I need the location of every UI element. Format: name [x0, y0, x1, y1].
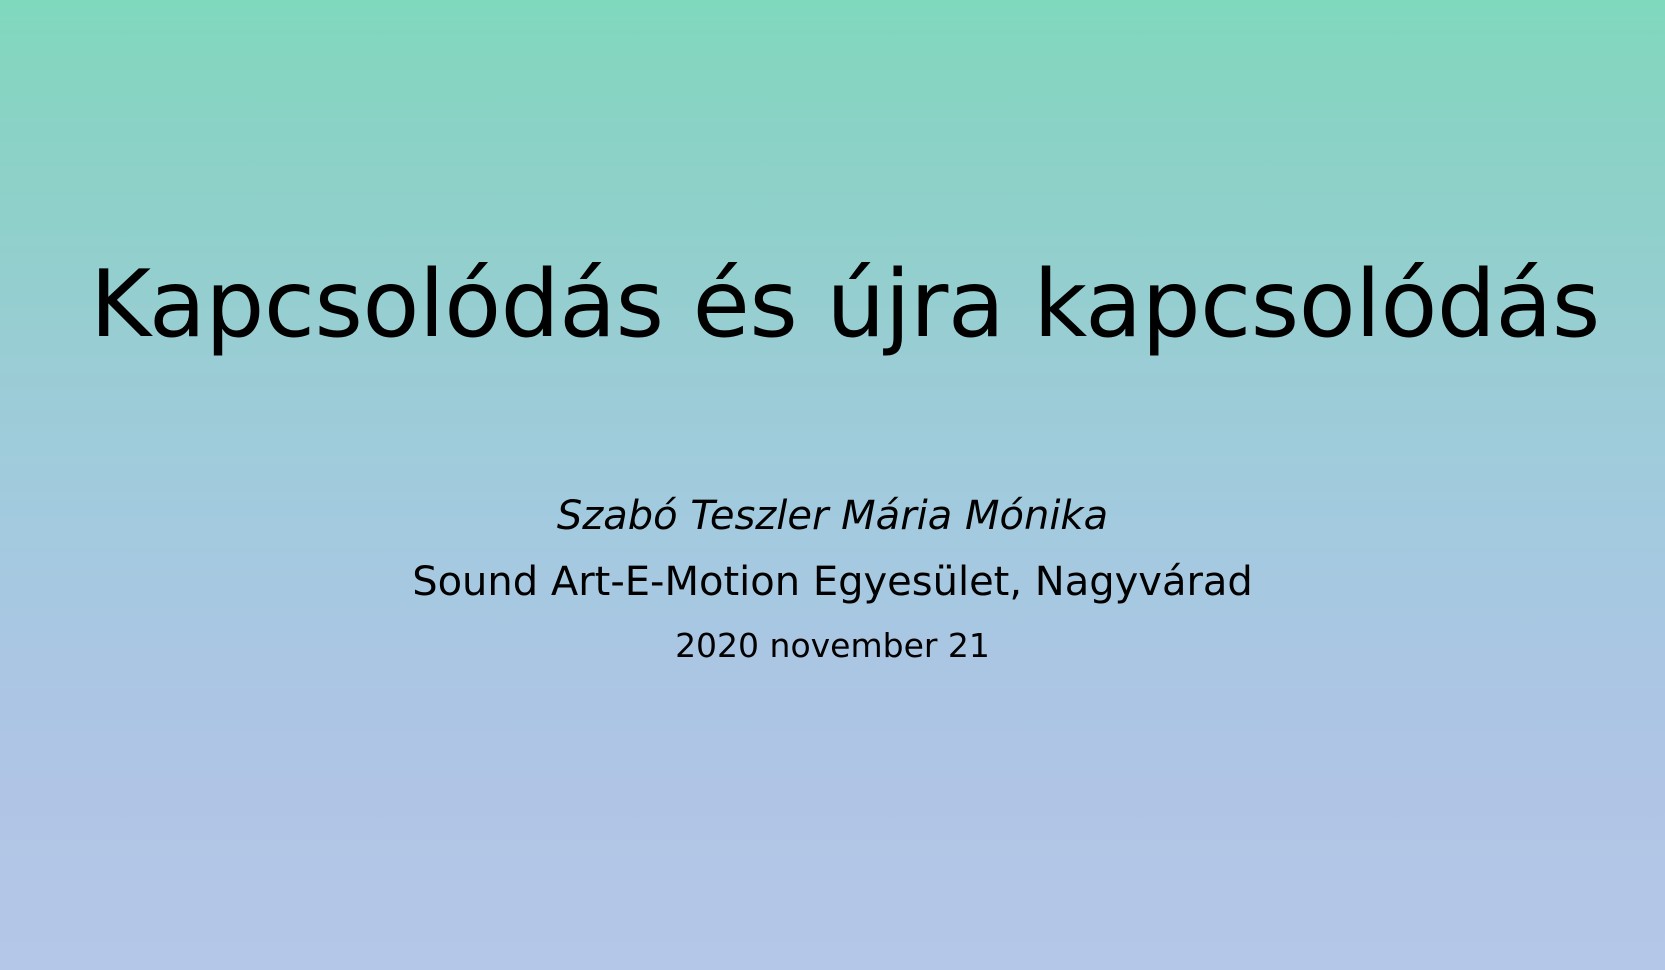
title-slide: Kapcsolódás és újra kapcsolódás Szabó Te…	[0, 0, 1665, 970]
organization-name: Sound Art-E-Motion Egyesület, Nagyvárad	[110, 536, 1555, 602]
presentation-date: 2020 november 21	[110, 602, 1555, 662]
title-placeholder: Kapcsolódás és újra kapcsolódás	[0, 255, 1665, 354]
author-name: Szabó Teszler Mária Mónika	[110, 496, 1555, 536]
page-title: Kapcsolódás és újra kapcsolódás	[90, 255, 1575, 354]
subtitle-placeholder: Szabó Teszler Mária Mónika Sound Art-E-M…	[0, 496, 1665, 662]
